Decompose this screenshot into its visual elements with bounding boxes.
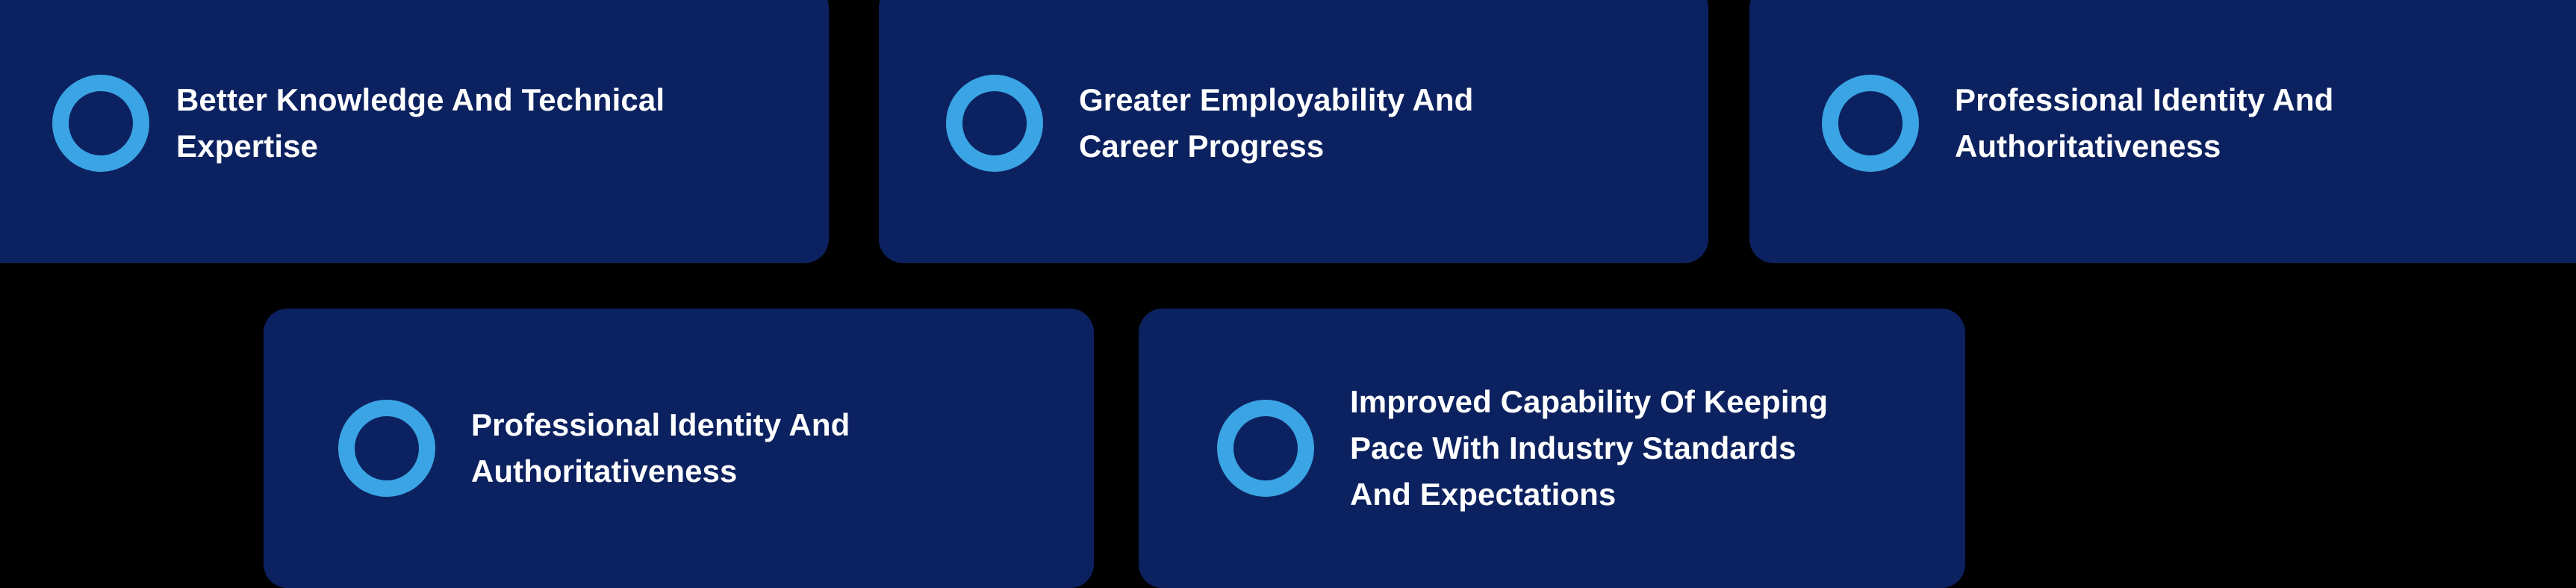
card-content: Professional Identity And Authoritativen…	[264, 400, 1094, 497]
benefit-card-3[interactable]: Professional Identity And Authoritativen…	[1749, 0, 2576, 263]
benefit-card-label: Professional Identity And Authoritativen…	[471, 402, 1039, 494]
card-content: Better Knowledge And Technical Expertise	[0, 75, 829, 172]
benefit-card-5[interactable]: Improved Capability Of Keeping Pace With…	[1139, 309, 1965, 588]
benefit-card-1[interactable]: Better Knowledge And Technical Expertise	[0, 0, 829, 263]
benefit-card-2[interactable]: Greater Employability And Career Progres…	[879, 0, 1708, 263]
circle-outline-icon	[52, 75, 149, 172]
benefit-card-label: Professional Identity And Authoritativen…	[1955, 77, 2522, 169]
benefit-card-label: Better Knowledge And Technical Expertise	[176, 77, 796, 169]
card-content: Improved Capability Of Keeping Pace With…	[1139, 379, 1965, 517]
benefit-card-label: Greater Employability And Career Progres…	[1079, 77, 1646, 169]
circle-outline-icon	[338, 400, 435, 497]
benefit-card-label: Improved Capability Of Keeping Pace With…	[1350, 379, 1947, 517]
circle-outline-icon	[1217, 400, 1314, 497]
card-content: Greater Employability And Career Progres…	[879, 75, 1708, 172]
benefit-card-4[interactable]: Professional Identity And Authoritativen…	[264, 309, 1094, 588]
circle-outline-icon	[1822, 75, 1919, 172]
circle-outline-icon	[946, 75, 1043, 172]
card-content: Professional Identity And Authoritativen…	[1749, 75, 2576, 172]
card-grid-stage: Better Knowledge And Technical Expertise…	[0, 0, 2576, 572]
